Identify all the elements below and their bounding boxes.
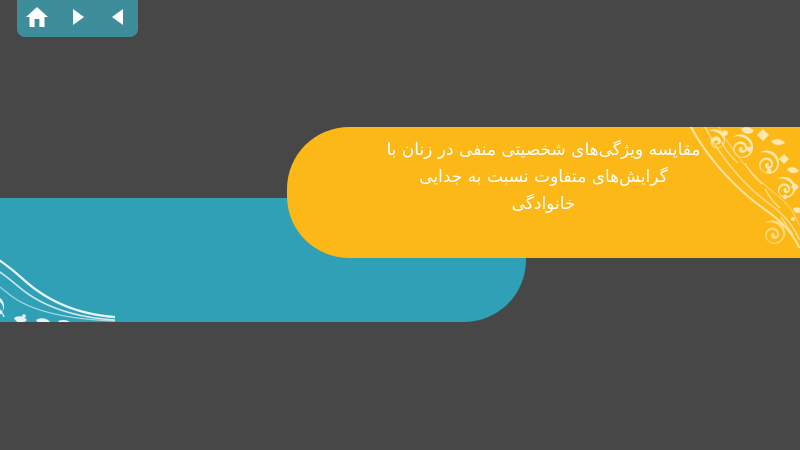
arabesque-corner-ornament (0, 222, 115, 322)
next-slide-button[interactable] (63, 3, 93, 31)
slide-title-line: مقایسه ویژگی‌های شخصیتی منفی در زنان با (315, 137, 772, 164)
slide-canvas: مقایسه ویژگی‌های شخصیتی منفی در زنان با … (0, 0, 800, 450)
triangle-right-icon (67, 6, 89, 28)
triangle-left-icon (107, 6, 129, 28)
previous-slide-button[interactable] (103, 3, 133, 31)
home-icon (25, 6, 49, 29)
slide-navigation-toolbar[interactable] (17, 0, 138, 37)
home-button[interactable] (22, 3, 52, 31)
slide-title: مقایسه ویژگی‌های شخصیتی منفی در زنان با … (315, 137, 772, 218)
slide-title-line: گرایش‌های متفاوت نسبت به جدایی (315, 164, 772, 191)
slide-title-line: خانوادگی (315, 191, 772, 218)
orange-title-banner: مقایسه ویژگی‌های شخصیتی منفی در زنان با … (287, 127, 800, 258)
